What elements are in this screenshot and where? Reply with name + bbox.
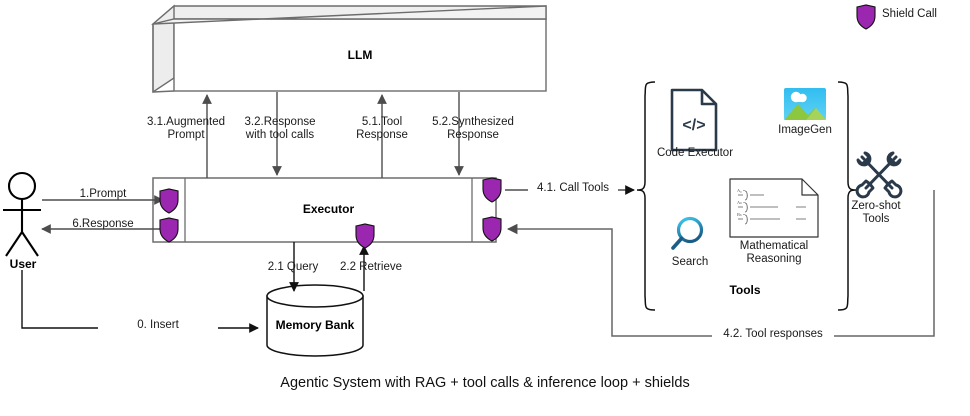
diagram-canvas: </> A₀ xyxy=(0,0,970,411)
tool-label-code-executor: Code Executor xyxy=(645,147,745,160)
edge-label-6-response: 6.Response xyxy=(48,218,158,231)
svg-text:</>: </> xyxy=(682,117,705,134)
diagram-caption: Agentic System with RAG + tool calls & i… xyxy=(0,375,970,391)
image-icon[interactable] xyxy=(784,88,826,120)
shield-icon xyxy=(857,5,875,29)
crossed-wrenches-icon[interactable] xyxy=(857,153,901,197)
tool-label-zero-shot-tools: Zero-shot Tools xyxy=(840,200,912,226)
tools-group-label: Tools xyxy=(700,283,790,297)
edge-label-0-insert: 0. Insert xyxy=(98,319,218,332)
tool-label-search: Search xyxy=(656,256,724,269)
edge-label-2-2-retrieve: 2.2 Retrieve xyxy=(330,261,412,274)
edge-label-4-2-tool-responses: 4.2. Tool responses xyxy=(712,328,834,341)
formula-document-icon[interactable]: A₀ =Aₙ =Bₙ = xyxy=(730,179,818,237)
svg-text:Bₙ =: Bₙ = xyxy=(737,212,746,217)
edge-label-5-1: 5.1.Tool Response xyxy=(344,116,420,142)
llm-label: LLM xyxy=(174,48,546,62)
magnifier-icon[interactable] xyxy=(673,219,702,249)
svg-text:Aₙ =: Aₙ = xyxy=(737,200,746,205)
edge-label-1-prompt: 1.Prompt xyxy=(48,188,158,201)
tool-label-imagegen: ImageGen xyxy=(765,124,845,137)
edge-label-3-1: 3.1.Augmented Prompt xyxy=(140,116,232,142)
edge-label-3-2: 3.2.Response with tool calls xyxy=(232,116,328,142)
user-label: User xyxy=(0,257,46,271)
edge-label-5-2: 5.2.Synthesized Response xyxy=(424,116,522,142)
legend-label: Shield Call xyxy=(882,8,966,21)
svg-text:A₀ =: A₀ = xyxy=(737,188,746,193)
edge-label-2-1-query: 2.1 Query xyxy=(258,261,328,274)
code-document-icon[interactable]: </> xyxy=(672,90,716,150)
executor-label: Executor xyxy=(185,202,472,216)
edge-label-4-1-call-tools: 4.1. Call Tools xyxy=(528,182,618,195)
shield-icon[interactable] xyxy=(356,224,374,248)
node-user[interactable] xyxy=(3,173,41,256)
tool-label-math-reasoning: Mathematical Reasoning xyxy=(724,240,824,266)
memory-bank-label: Memory Bank xyxy=(267,318,363,332)
